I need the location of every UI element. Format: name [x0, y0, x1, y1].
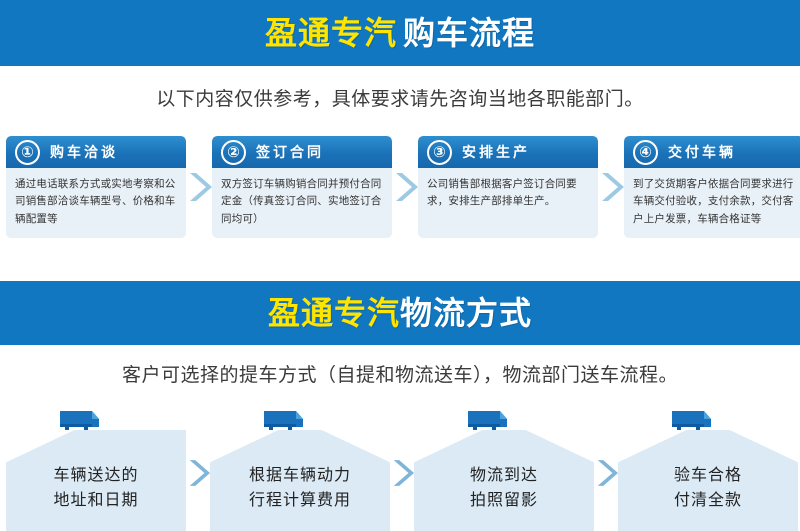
step-body-4: 到了交货期客户依据合同要求进行车辆交付验收，支付余款，交付客户上户发票，车辆合格… [624, 168, 800, 238]
step-card-3-header: ③ 安排生产 [418, 136, 598, 168]
logistics-card-2-line2: 行程计算费用 [249, 489, 351, 514]
step-card-2-header: ② 签订合同 [212, 136, 392, 168]
logistics-card-1-line2: 地址和日期 [53, 489, 138, 514]
chevron-right-icon [186, 457, 210, 489]
step-body-1: 通过电话联系方式或实地考察和公司销售部洽谈车辆型号、价格和车辆配置等 [6, 168, 186, 238]
step-card-4-header: ④ 交付车辆 [624, 136, 800, 168]
purchase-flow-banner-title: 盈通专汽购车流程 [265, 17, 535, 49]
logistics-card-3[interactable]: 物流到达 拍照留影 [414, 408, 594, 531]
logistics-card-3-line2: 拍照留影 [470, 489, 538, 514]
logistics-arrow-2 [390, 430, 414, 531]
logistics-subtitle: 客户可选择的提车方式（自提和物流送车），物流部门送车流程。 [0, 360, 800, 387]
chevron-right-icon [598, 170, 624, 204]
step-title-1: 购车洽谈 [50, 142, 118, 162]
logistics-banner-brand-text: 盈通专汽 [268, 295, 400, 331]
purchase-steps-row: ① 购车洽谈 通过电话联系方式或实地考察和公司销售部洽谈车辆型号、价格和车辆配置… [6, 136, 794, 248]
logistics-card-2[interactable]: 根据车辆动力 行程计算费用 [210, 408, 390, 531]
logistics-arrow-1 [186, 430, 210, 531]
step-number-4: ④ [633, 140, 658, 165]
logistics-card-4-text: 验车合格 付清全款 [618, 430, 798, 531]
logistics-steps-row: 车辆送达的 地址和日期 根据车辆动力 行程计算费用 [6, 408, 794, 531]
step-card-1[interactable]: ① 购车洽谈 通过电话联系方式或实地考察和公司销售部洽谈车辆型号、价格和车辆配置… [6, 136, 186, 238]
step-arrow-3 [598, 136, 624, 238]
logistics-banner-subject-text: 物流方式 [400, 295, 532, 331]
step-card-2[interactable]: ② 签订合同 双方签订车辆购销合同并预付合同定金（传真签订合同、实地签订合同均可… [212, 136, 392, 238]
purchase-logistics-infographic: 盈通专汽购车流程 以下内容仅供参考，具体要求请先咨询当地各职能部门。 ① 购车洽… [0, 0, 800, 531]
step-arrow-1 [186, 136, 212, 238]
step-title-2: 签订合同 [256, 142, 324, 162]
step-card-3[interactable]: ③ 安排生产 公司销售部根据客户签订合同要求，安排生产部排单生产。 [418, 136, 598, 238]
logistics-card-2-line1: 根据车辆动力 [249, 464, 351, 489]
step-title-3: 安排生产 [462, 142, 530, 162]
chevron-right-icon [392, 170, 418, 204]
chevron-right-icon [390, 457, 414, 489]
banner-subject-text: 购车流程 [403, 15, 535, 51]
logistics-card-2-text: 根据车辆动力 行程计算费用 [210, 430, 390, 531]
banner-brand-text: 盈通专汽 [265, 15, 397, 51]
step-body-2: 双方签订车辆购销合同并预付合同定金（传真签订合同、实地签订合同均可） [212, 168, 392, 238]
logistics-banner-title: 盈通专汽物流方式 [268, 297, 532, 329]
step-number-1: ① [15, 140, 40, 165]
step-card-1-header: ① 购车洽谈 [6, 136, 186, 168]
step-number-2: ② [221, 140, 246, 165]
step-title-4: 交付车辆 [668, 142, 736, 162]
step-body-3: 公司销售部根据客户签订合同要求，安排生产部排单生产。 [418, 168, 598, 221]
logistics-card-1-line1: 车辆送达的 [53, 464, 138, 489]
step-arrow-2 [392, 136, 418, 238]
logistics-card-4-line2: 付清全款 [674, 489, 742, 514]
chevron-right-icon [594, 457, 618, 489]
logistics-card-1[interactable]: 车辆送达的 地址和日期 [6, 408, 186, 531]
logistics-card-1-text: 车辆送达的 地址和日期 [6, 430, 186, 531]
logistics-arrow-3 [594, 430, 618, 531]
logistics-banner: 盈通专汽物流方式 [0, 281, 800, 345]
chevron-right-icon [186, 170, 212, 204]
step-number-3: ③ [427, 140, 452, 165]
logistics-card-3-line1: 物流到达 [470, 464, 538, 489]
step-card-4[interactable]: ④ 交付车辆 到了交货期客户依据合同要求进行车辆交付验收，支付余款，交付客户上户… [624, 136, 800, 238]
logistics-card-4[interactable]: 验车合格 付清全款 [618, 408, 798, 531]
purchase-flow-subtitle: 以下内容仅供参考，具体要求请先咨询当地各职能部门。 [0, 84, 800, 111]
purchase-flow-banner: 盈通专汽购车流程 [0, 0, 800, 66]
logistics-card-3-text: 物流到达 拍照留影 [414, 430, 594, 531]
logistics-card-4-line1: 验车合格 [674, 464, 742, 489]
